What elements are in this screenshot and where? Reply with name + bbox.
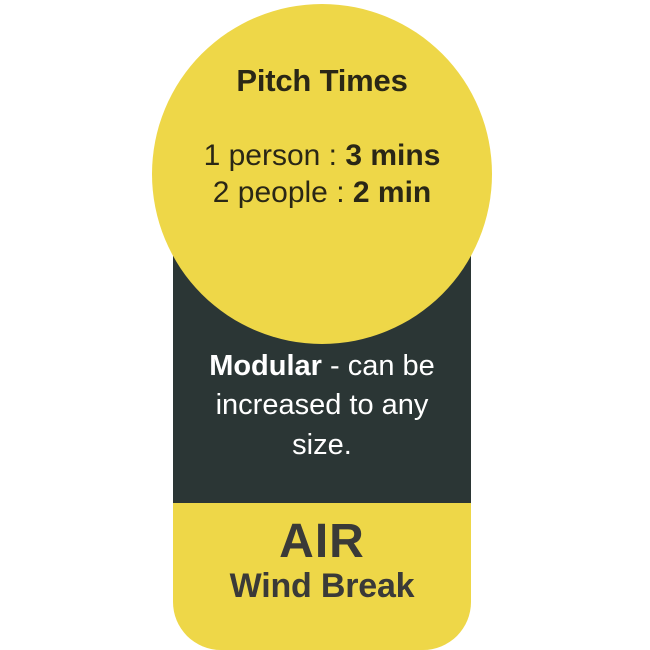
pitch-times-title: Pitch Times bbox=[236, 65, 407, 96]
air-wind-break-badge: Modular - can be increased to any size. … bbox=[0, 0, 650, 650]
pitch-times-row: 1 person : 3 mins bbox=[204, 140, 441, 172]
pitch-row-label: 1 person bbox=[204, 139, 321, 172]
pitch-times-list: 1 person : 3 mins 2 people : 2 min bbox=[204, 140, 441, 209]
brand-footer-panel: AIR Wind Break bbox=[173, 503, 471, 650]
pitch-row-value: 2 min bbox=[353, 176, 431, 209]
brand-name: AIR bbox=[279, 517, 365, 567]
pitch-row-value: 3 mins bbox=[345, 139, 440, 172]
pitch-times-row: 2 people : 2 min bbox=[213, 177, 431, 209]
product-name: Wind Break bbox=[230, 569, 415, 605]
description-emphasis: Modular bbox=[209, 350, 322, 382]
pitch-row-label: 2 people bbox=[213, 176, 328, 209]
description-text: Modular - can be increased to any size. bbox=[188, 347, 456, 465]
pitch-times-content: Pitch Times 1 person : 3 mins 2 people :… bbox=[152, 4, 492, 344]
brand-footer-content: AIR Wind Break bbox=[173, 503, 471, 650]
pitch-row-separator: : bbox=[328, 176, 353, 209]
pitch-row-separator: : bbox=[320, 139, 345, 172]
pitch-times-circle: Pitch Times 1 person : 3 mins 2 people :… bbox=[152, 4, 492, 344]
